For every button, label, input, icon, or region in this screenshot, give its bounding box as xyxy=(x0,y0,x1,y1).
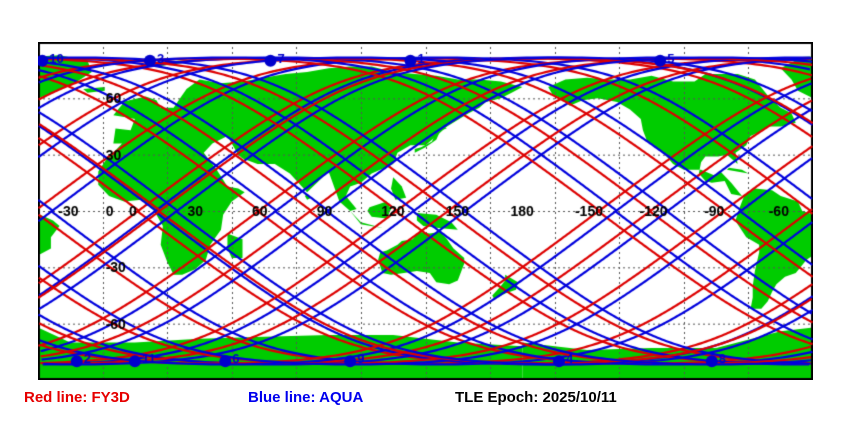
map-legend: Red line: FY3D Blue line: AQUA TLE Epoch… xyxy=(0,389,850,411)
world-map xyxy=(38,42,813,380)
legend-tle-epoch: TLE Epoch: 2025/10/11 xyxy=(455,389,617,406)
legend-blue-line: Blue line: AQUA xyxy=(248,389,363,406)
legend-red-line: Red line: FY3D xyxy=(24,389,130,406)
map-canvas xyxy=(38,42,813,380)
